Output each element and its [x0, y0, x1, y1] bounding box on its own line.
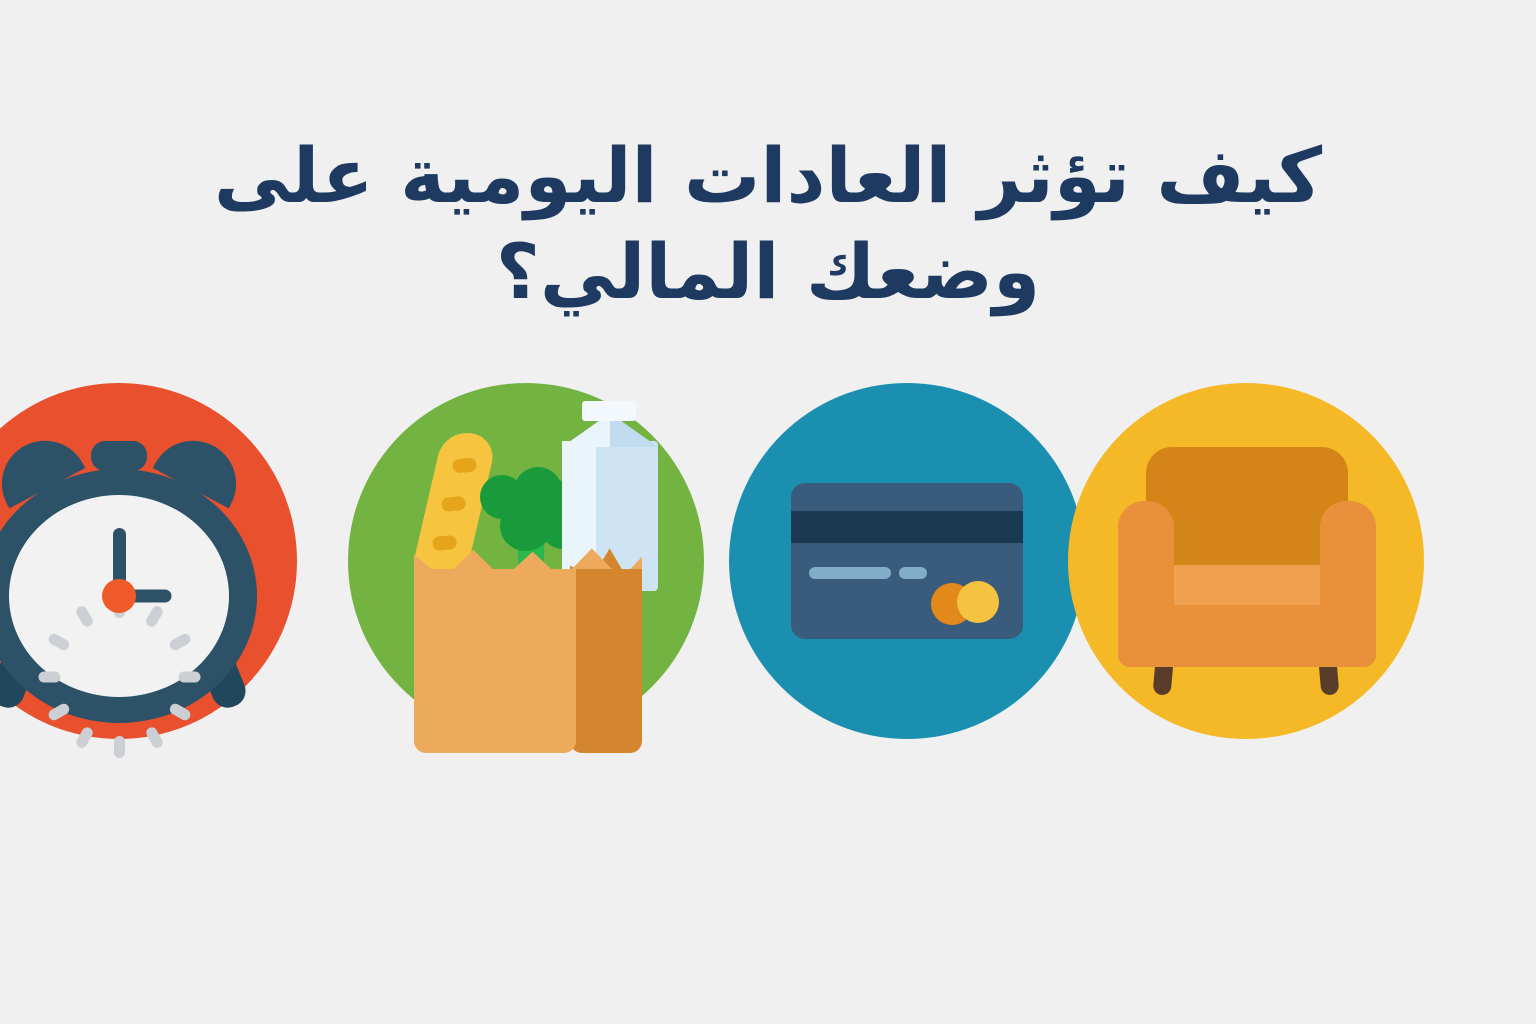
- baguette-slash: [441, 496, 466, 512]
- bag-side-panel: [570, 569, 642, 753]
- milk-carton-cap: [582, 401, 636, 421]
- clock-tick: [38, 672, 60, 683]
- clock-tick: [144, 604, 165, 629]
- icon-row: [0, 383, 1536, 739]
- clock-center-pivot: [102, 579, 136, 613]
- clock-tick: [144, 725, 165, 750]
- card-number-bar: [809, 567, 891, 579]
- clock-tick: [74, 604, 95, 629]
- icon-badge-alarm-clock: [0, 383, 297, 739]
- alarm-clock-icon: [0, 383, 297, 739]
- title-line-1: كيف تؤثر العادات اليومية على: [0, 128, 1536, 224]
- baguette-slash: [452, 457, 477, 473]
- icon-badge-grocery-bag: [348, 383, 704, 739]
- alarm-face: [9, 495, 229, 697]
- clock-tick: [46, 632, 71, 653]
- icon-badge-credit-card: [729, 383, 1085, 739]
- clock-tick: [167, 632, 192, 653]
- card-magnetic-stripe: [791, 511, 1023, 543]
- grocery-bag-icon: [348, 383, 704, 739]
- page-title: كيف تؤثر العادات اليومية على وضعك المالي…: [0, 128, 1536, 320]
- clock-tick: [178, 672, 200, 683]
- armchair-icon: [1068, 383, 1424, 739]
- card-number-bar: [899, 567, 927, 579]
- clock-tick: [74, 725, 95, 750]
- icon-badge-armchair: [1068, 383, 1424, 739]
- infographic-canvas: كيف تؤثر العادات اليومية على وضعك المالي…: [0, 0, 1536, 1024]
- armchair-arm-left: [1118, 501, 1174, 643]
- title-line-2: وضعك المالي؟: [0, 224, 1536, 320]
- clock-tick: [114, 736, 125, 758]
- armchair-arm-right: [1320, 501, 1376, 643]
- baguette-slash: [432, 535, 457, 551]
- bag-front-panel: [414, 569, 576, 753]
- card-logo-circle-yellow: [957, 581, 999, 623]
- credit-card-icon: [729, 383, 1085, 739]
